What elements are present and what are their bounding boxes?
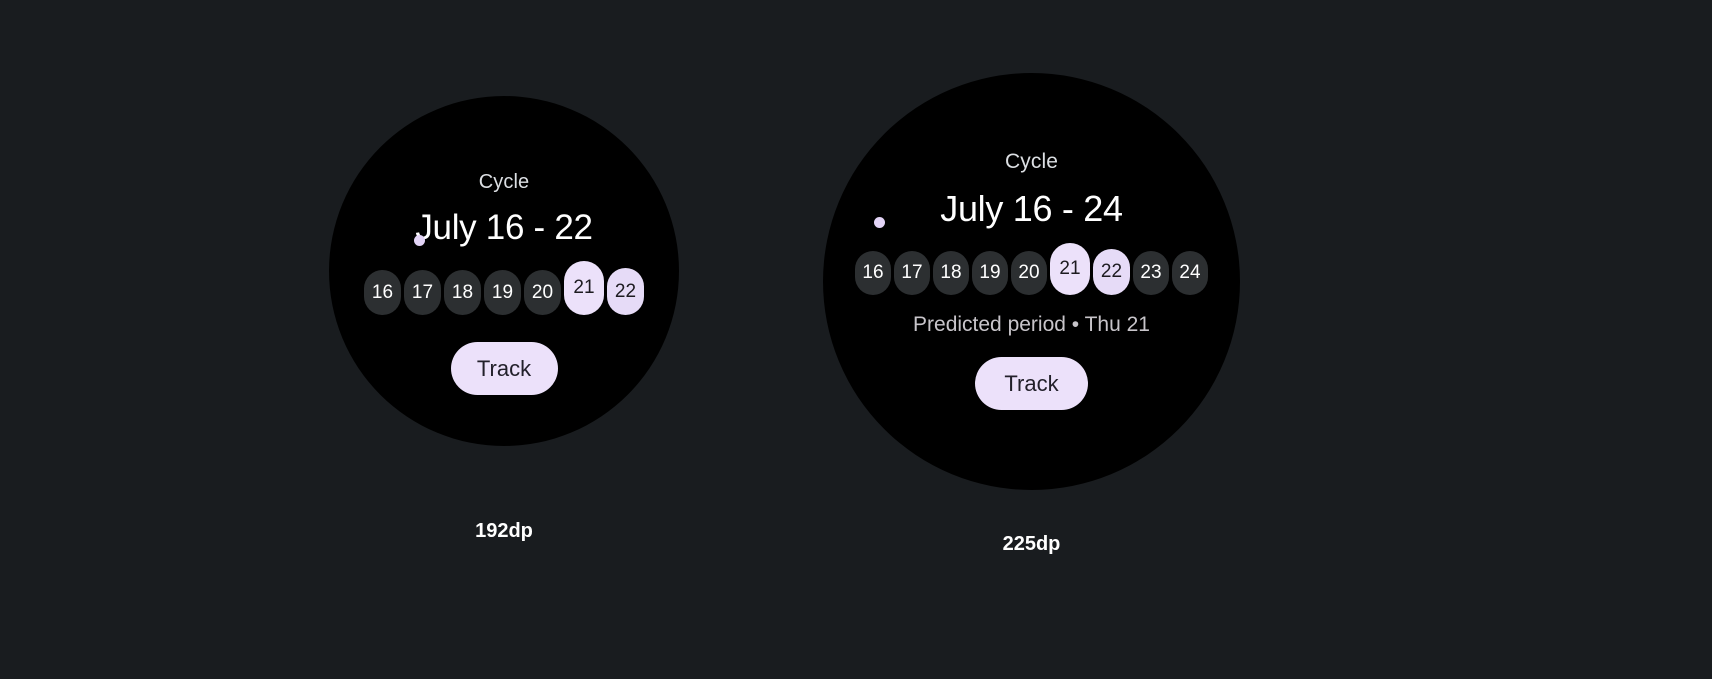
- screenshot-canvas: Cycle July 16 - 22 16 17 18 19 20 21 22 …: [0, 0, 1712, 679]
- day-pill[interactable]: 20: [1011, 251, 1047, 295]
- today-dot-icon: [414, 235, 425, 246]
- watch-preview-192dp: Cycle July 16 - 22 16 17 18 19 20 21 22 …: [329, 96, 679, 543]
- day-pill[interactable]: 17: [894, 251, 930, 295]
- day-pill[interactable]: 16: [364, 270, 401, 315]
- day-pill[interactable]: 24: [1172, 251, 1208, 295]
- predicted-period-text-225dp: Predicted period • Thu 21: [913, 313, 1150, 337]
- day-pill[interactable]: 17: [404, 270, 441, 315]
- day-pill-accent[interactable]: 22: [607, 268, 644, 315]
- day-pill[interactable]: 23: [1133, 251, 1169, 295]
- day-pill-selected[interactable]: 21: [1050, 243, 1090, 295]
- today-dot-icon: [874, 217, 885, 228]
- date-range-225dp: July 16 - 24: [940, 188, 1123, 230]
- day-pill[interactable]: 16: [855, 251, 891, 295]
- day-pill[interactable]: 18: [933, 251, 969, 295]
- day-pill[interactable]: 20: [524, 270, 561, 315]
- cycle-title-192dp: Cycle: [479, 171, 530, 194]
- watch-preview-225dp: Cycle July 16 - 24 16 17 18 19 20 21 22 …: [823, 73, 1240, 556]
- day-pill-row-192dp: 16 17 18 19 20 21 22: [364, 261, 644, 315]
- watch-face-192dp: Cycle July 16 - 22 16 17 18 19 20 21 22 …: [329, 96, 679, 446]
- size-caption-225dp: 225dp: [1003, 533, 1061, 556]
- date-range-192dp: July 16 - 22: [415, 208, 592, 248]
- day-pill[interactable]: 19: [484, 270, 521, 315]
- size-caption-192dp: 192dp: [475, 520, 533, 543]
- cycle-title-225dp: Cycle: [1005, 150, 1058, 174]
- day-pill-row-225dp: 16 17 18 19 20 21 22 23 24: [855, 243, 1208, 295]
- watch-face-225dp: Cycle July 16 - 24 16 17 18 19 20 21 22 …: [823, 73, 1240, 490]
- day-pill-accent[interactable]: 22: [1093, 249, 1130, 295]
- track-button-225dp[interactable]: Track: [975, 357, 1088, 410]
- day-pill[interactable]: 18: [444, 270, 481, 315]
- day-pill-selected[interactable]: 21: [564, 261, 604, 315]
- track-button-192dp[interactable]: Track: [451, 342, 558, 395]
- day-pill[interactable]: 19: [972, 251, 1008, 295]
